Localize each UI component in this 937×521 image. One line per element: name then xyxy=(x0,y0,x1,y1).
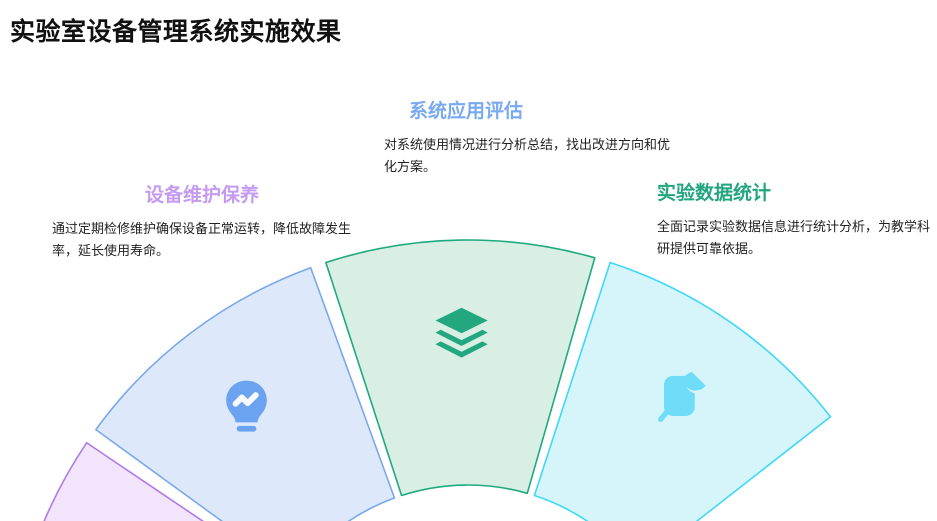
fan-diagram xyxy=(0,0,937,521)
fan-petal-group xyxy=(8,240,830,521)
